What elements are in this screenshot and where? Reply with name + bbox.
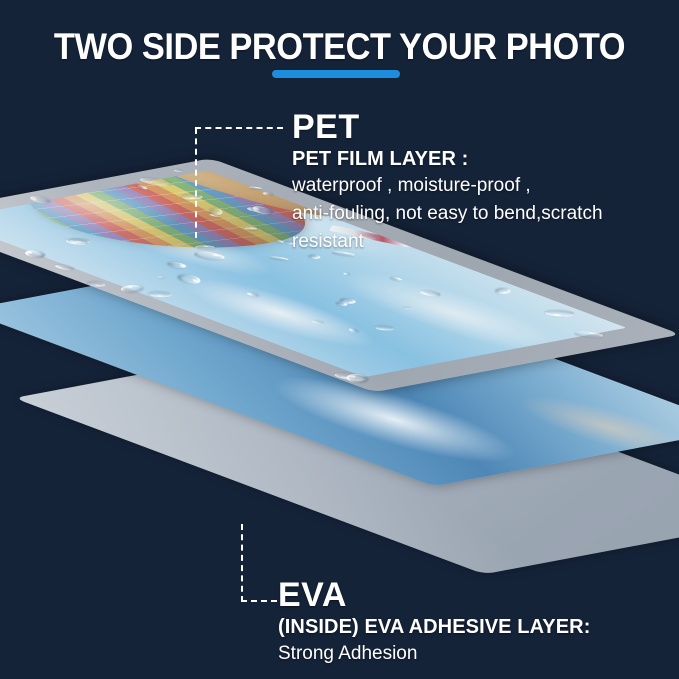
- callout-pet-subtitle: PET FILM LAYER :: [292, 146, 622, 172]
- callout-pet-body-line-3: resistant: [292, 228, 622, 256]
- callout-eva: EVA (INSIDE) EVA ADHESIVE LAYER: Strong …: [278, 576, 638, 668]
- infographic-canvas: TWO SIDE PROTECT YOUR PHOTO: [0, 0, 679, 679]
- page-title: TWO SIDE PROTECT YOUR PHOTO: [24, 26, 655, 68]
- callout-eva-title: EVA: [278, 576, 638, 614]
- pet-leader-horizontal: [195, 127, 283, 129]
- callout-eva-body-line-1: Strong Adhesion: [278, 640, 638, 668]
- title-underline-rule: [272, 70, 400, 78]
- callout-pet-body-line-2: anti-fouling, not easy to bend,scratch: [292, 200, 622, 228]
- callout-pet-title: PET: [292, 108, 622, 146]
- callout-pet: PET PET FILM LAYER : waterproof , moistu…: [292, 108, 622, 256]
- callout-pet-body-line-1: waterproof , moisture-proof ,: [292, 172, 622, 200]
- callout-eva-subtitle: (INSIDE) EVA ADHESIVE LAYER:: [278, 614, 638, 640]
